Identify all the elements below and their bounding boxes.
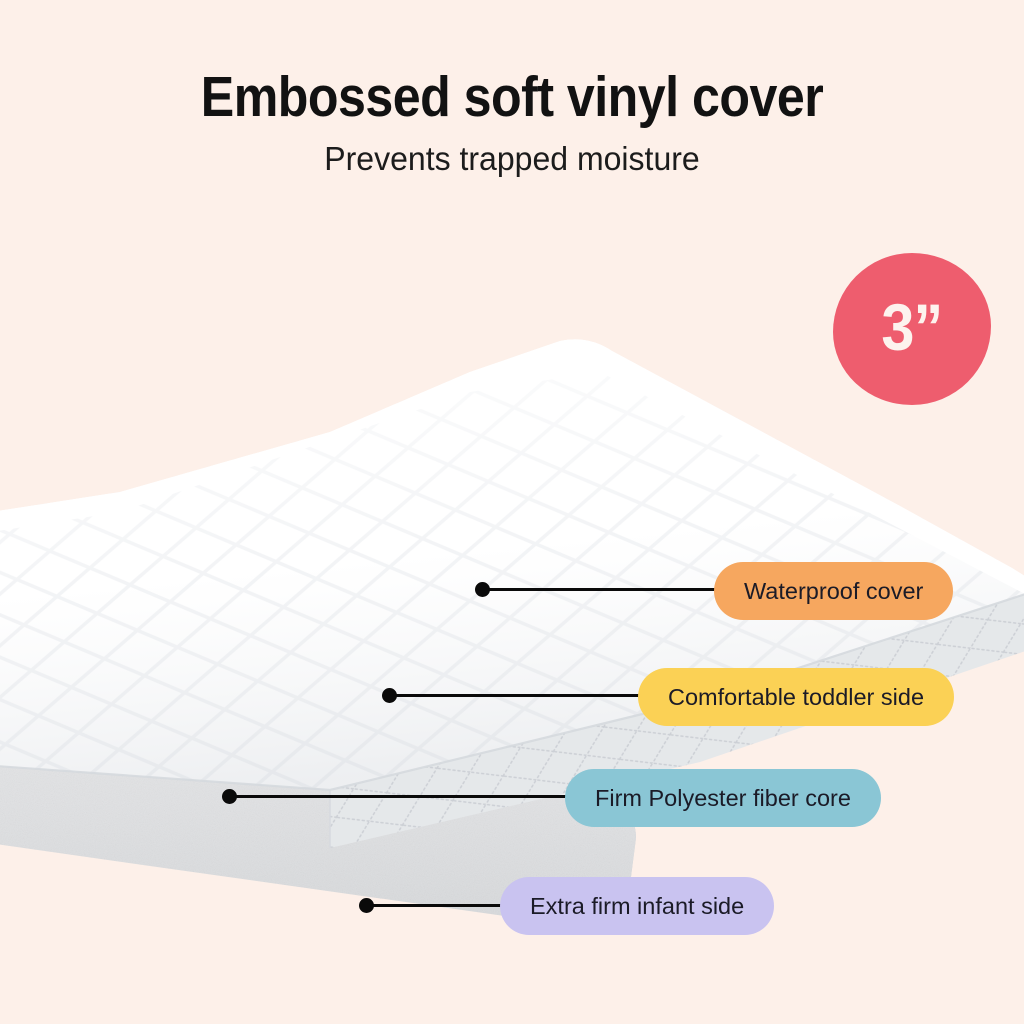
callout-line-firm-polyester-fiber-core — [234, 795, 574, 798]
callout-dot-waterproof-cover — [475, 582, 490, 597]
callout-label-waterproof-cover[interactable]: Waterproof cover — [714, 562, 953, 620]
callout-label-firm-polyester-fiber-core[interactable]: Firm Polyester fiber core — [565, 769, 881, 827]
page-title: Embossed soft vinyl cover — [61, 66, 962, 128]
infographic-canvas: Embossed soft vinyl cover Prevents trapp… — [0, 0, 1024, 1024]
callout-dot-firm-polyester-fiber-core — [222, 789, 237, 804]
callout-dot-extra-firm-infant-side — [359, 898, 374, 913]
callout-line-comfortable-toddler-side — [394, 694, 659, 697]
thickness-badge: 3” — [833, 253, 991, 405]
header: Embossed soft vinyl cover Prevents trapp… — [0, 66, 1024, 178]
thickness-badge-value: 3” — [882, 294, 943, 364]
callout-label-comfortable-toddler-side[interactable]: Comfortable toddler side — [638, 668, 954, 726]
page-subtitle: Prevents trapped moisture — [15, 140, 1008, 178]
callout-dot-comfortable-toddler-side — [382, 688, 397, 703]
callout-label-extra-firm-infant-side[interactable]: Extra firm infant side — [500, 877, 774, 935]
callout-line-extra-firm-infant-side — [371, 904, 511, 907]
callout-line-waterproof-cover — [487, 588, 737, 591]
